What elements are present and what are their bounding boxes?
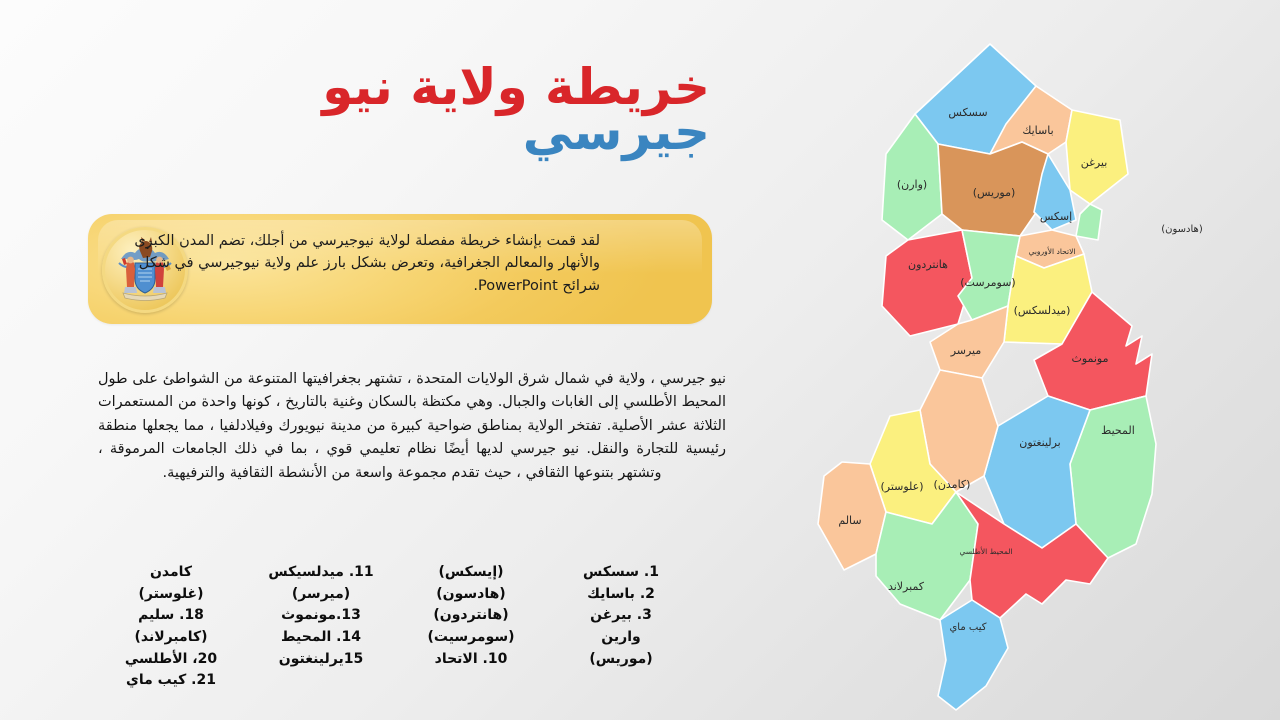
map-label-hunterdon: هانتردون	[908, 258, 948, 271]
map-label-cumberland: كمبرلاند	[888, 580, 925, 593]
county-hunterdon	[882, 230, 972, 336]
map-label-bergen: بيرغن	[1081, 156, 1108, 169]
page-title: خريطة ولاية نيو جيرسي	[70, 62, 710, 158]
legend-item: (هانتردون)	[396, 605, 546, 627]
legend-item: 10. الاتحاد	[396, 649, 546, 671]
map-label-warren: (وارن)	[897, 178, 927, 191]
legend-column-2: (إيسكس) (هادسون) (هانتردون) (سومرسيت) 10…	[396, 562, 546, 712]
map-label-morris: (موريس)	[973, 186, 1016, 199]
legend-item: 1. سسكس	[546, 562, 696, 584]
map-label-essex: إسكس	[1040, 210, 1072, 223]
legend-item: (كامبرلاند)	[96, 627, 246, 649]
legend-item: (هادسون)	[396, 584, 546, 606]
map-label-union: الاتحاد الأوروبي	[1029, 246, 1076, 256]
legend-item: كامدن	[96, 562, 246, 584]
county-capemay	[938, 600, 1008, 710]
legend-item: 21. كيب ماي	[96, 670, 246, 692]
legend-item: 15يرلينغتون	[246, 649, 396, 671]
map-label-gloucester: (علوستر)	[880, 480, 923, 493]
body-paragraph: نيو جيرسي ، ولاية في شمال شرق الولايات ا…	[98, 368, 726, 485]
map-label-capemay: كيب ماي	[949, 622, 986, 633]
map-label-somerset: (سومرست)	[960, 276, 1015, 289]
legend-item: 2. باسايك	[546, 584, 696, 606]
map-label-camden: (كامدن)	[934, 478, 971, 491]
legend-column-4: كامدن (غلوستر) 18. سليم (كامبرلاند) 20، …	[96, 562, 246, 712]
map-label-hudson: (هادسون)	[1161, 224, 1203, 235]
legend-item: 13.مونموث	[246, 605, 396, 627]
legend-column-1: 1. سسكس 2. باسايك 3. بيرغن وارين (موريس)	[546, 562, 696, 712]
new-jersey-county-map: سسكس باسايك بيرغن (وارن) (موريس) إسكس (ه…	[790, 24, 1260, 712]
legend-item: (إيسكس)	[396, 562, 546, 584]
county-hudson-shape	[1076, 204, 1102, 240]
map-label-monmouth: مونموث	[1071, 352, 1108, 365]
map-label-mercer: ميرسر	[950, 344, 982, 357]
legend-item: (سومرسيت)	[396, 627, 546, 649]
legend-column-3: 11. ميدلسيكس (ميرسر) 13.مونموث 14. المحي…	[246, 562, 396, 712]
legend-item: 18. سليم	[96, 605, 246, 627]
legend-item: 14. المحيط	[246, 627, 396, 649]
slide-canvas: خريطة ولاية نيو جيرسي	[0, 0, 1280, 720]
legend-item: وارين	[546, 627, 696, 649]
callout-text: لقد قمت بإنشاء خريطة مفصلة لولاية نيوجير…	[110, 230, 600, 297]
map-label-middlesex: (ميدلسكس)	[1014, 304, 1071, 317]
intro-callout: لقد قمت بإنشاء خريطة مفصلة لولاية نيوجير…	[88, 214, 712, 324]
map-label-burlington: برلينغتون	[1019, 436, 1061, 449]
county-legend: 1. سسكس 2. باسايك 3. بيرغن وارين (موريس)…	[96, 562, 696, 712]
legend-item: (غلوستر)	[96, 584, 246, 606]
legend-item: 20، الأطلسي	[96, 649, 246, 671]
legend-item: (موريس)	[546, 649, 696, 671]
legend-item: (ميرسر)	[246, 584, 396, 606]
map-label-ocean: المحيط	[1101, 424, 1135, 437]
map-label-salem: سالم	[838, 514, 861, 527]
map-label-atlantic: المحيط الأطلسي	[959, 546, 1012, 556]
map-label-passaic: باسايك	[1022, 124, 1053, 137]
legend-item: 11. ميدلسيكس	[246, 562, 396, 584]
map-label-sussex: سسكس	[948, 106, 987, 119]
legend-item: 3. بيرغن	[546, 605, 696, 627]
